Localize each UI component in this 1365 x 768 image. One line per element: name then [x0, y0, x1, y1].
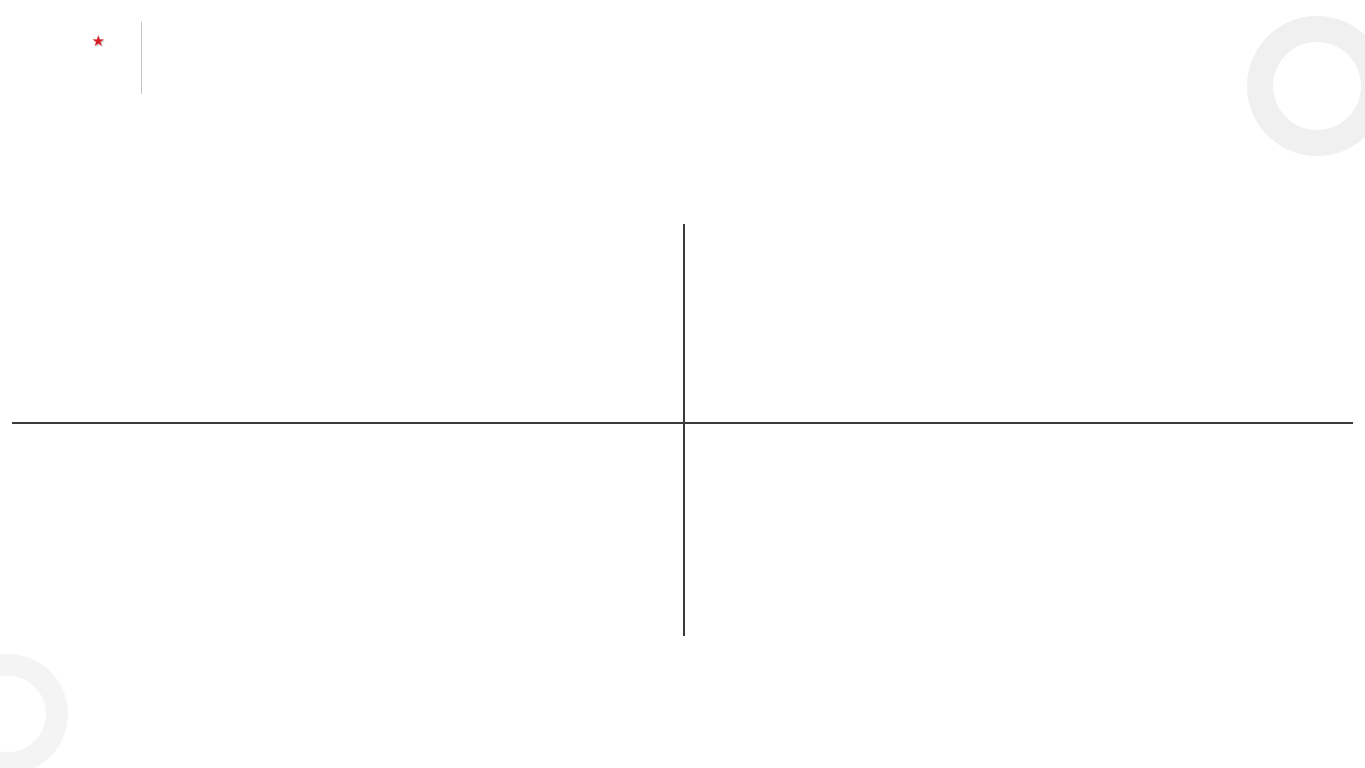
footnote: [8, 723, 9, 738]
watermark-ring-top-right: [1247, 16, 1365, 156]
firstcash-logo: ★: [14, 28, 139, 50]
quadrant-divider-vertical: [683, 224, 685, 636]
watermark-ring-bottom-left: [0, 654, 68, 768]
star-icon: ★: [92, 34, 105, 49]
header-divider: [141, 22, 142, 94]
slide-canvas: ★: [0, 0, 1365, 768]
